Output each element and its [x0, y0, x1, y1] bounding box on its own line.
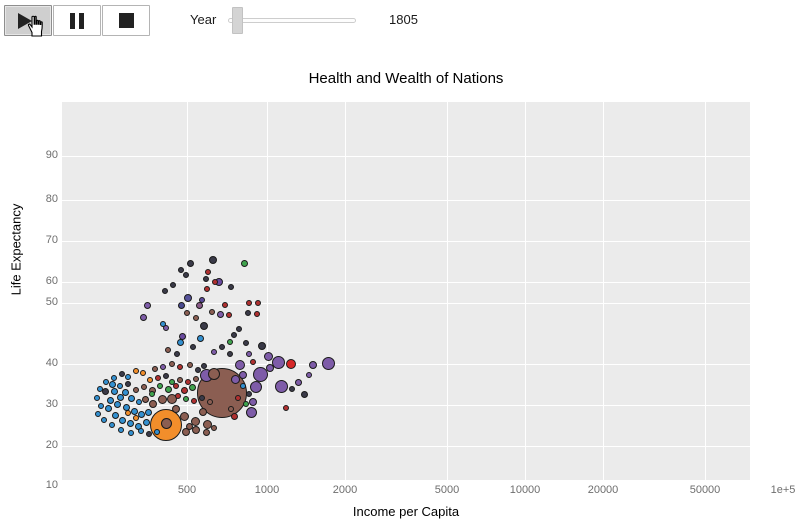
x-tick-label: 500 — [152, 484, 222, 496]
chart-title: Health and Wealth of Nations — [0, 70, 812, 87]
y-tick-label: 90 — [18, 149, 58, 161]
data-bubble[interactable] — [239, 371, 247, 379]
play-icon — [18, 13, 32, 29]
x-tick-label: 1000 — [232, 484, 302, 496]
data-bubble[interactable] — [199, 395, 205, 401]
data-bubble[interactable] — [149, 400, 157, 408]
data-bubble[interactable] — [186, 423, 193, 430]
x-tick-label: 10000 — [490, 484, 560, 496]
data-bubble[interactable] — [204, 286, 210, 292]
y-tick-label: 30 — [18, 398, 58, 410]
playback-toolbar: Year 1805 — [0, 0, 812, 42]
data-bubble[interactable] — [112, 412, 119, 419]
data-bubble[interactable] — [178, 302, 185, 309]
data-bubble[interactable] — [219, 344, 225, 350]
data-bubble[interactable] — [222, 302, 228, 308]
data-bubble[interactable] — [246, 300, 252, 306]
data-bubble[interactable] — [157, 383, 163, 389]
data-bubble[interactable] — [236, 326, 242, 332]
data-bubble[interactable] — [209, 309, 215, 315]
data-bubble[interactable] — [235, 395, 241, 401]
data-bubble[interactable] — [127, 420, 134, 427]
data-bubble[interactable] — [143, 419, 150, 426]
data-bubble[interactable] — [103, 379, 109, 385]
data-bubble[interactable] — [203, 276, 209, 282]
play-button[interactable] — [4, 5, 52, 36]
pause-button[interactable] — [53, 5, 101, 36]
y-tick-label: 20 — [18, 439, 58, 451]
data-bubble[interactable] — [266, 364, 274, 372]
data-bubble[interactable] — [97, 386, 103, 392]
pause-icon — [70, 13, 84, 29]
bubble-chart: Health and Wealth of Nations Life Expect… — [0, 42, 812, 529]
data-bubble[interactable] — [249, 398, 257, 406]
data-bubble[interactable] — [109, 422, 115, 428]
data-bubble[interactable] — [114, 401, 121, 408]
data-bubble[interactable] — [241, 260, 248, 267]
data-bubble[interactable] — [107, 397, 114, 404]
data-bubble[interactable] — [275, 380, 288, 393]
y-tick-label: 70 — [18, 234, 58, 246]
data-bubble[interactable] — [101, 417, 107, 423]
data-bubble[interactable] — [192, 426, 200, 434]
gridline-vertical — [525, 102, 526, 480]
data-bubble[interactable] — [208, 368, 220, 380]
x-tick-label: 50000 — [670, 484, 740, 496]
data-bubble[interactable] — [185, 379, 191, 385]
data-bubble[interactable] — [149, 391, 155, 397]
y-tick-label: 60 — [18, 275, 58, 287]
gridline-vertical — [267, 102, 268, 480]
year-slider[interactable] — [228, 12, 356, 28]
gridline-vertical — [603, 102, 604, 480]
data-bubble[interactable] — [211, 425, 217, 431]
data-bubble[interactable] — [140, 370, 146, 376]
data-bubble[interactable] — [145, 409, 152, 416]
data-bubble[interactable] — [118, 427, 124, 433]
year-slider-thumb[interactable] — [232, 7, 243, 34]
data-bubble[interactable] — [283, 405, 289, 411]
stop-icon — [119, 13, 134, 28]
data-bubble[interactable] — [105, 405, 112, 412]
data-bubble[interactable] — [286, 359, 296, 369]
data-bubble[interactable] — [201, 363, 207, 369]
data-bubble[interactable] — [95, 411, 101, 417]
data-bubble[interactable] — [211, 349, 217, 355]
data-bubble[interactable] — [226, 312, 232, 318]
data-bubble[interactable] — [243, 401, 249, 407]
data-bubble[interactable] — [152, 366, 158, 372]
data-bubble[interactable] — [246, 407, 257, 418]
data-bubble[interactable] — [231, 413, 238, 420]
y-tick-label: 10 — [18, 479, 58, 491]
data-bubble[interactable] — [162, 288, 168, 294]
gridline-horizontal — [62, 446, 750, 447]
gridline-horizontal — [62, 405, 750, 406]
y-tick-label: 40 — [18, 357, 58, 369]
year-slider-label: Year — [190, 12, 216, 27]
data-bubble[interactable] — [187, 362, 193, 368]
data-bubble[interactable] — [172, 405, 180, 413]
gridline-vertical — [705, 102, 706, 480]
year-slider-value: 1805 — [389, 12, 418, 27]
data-bubble[interactable] — [199, 297, 205, 303]
data-bubble[interactable] — [177, 364, 183, 370]
y-tick-label: 80 — [18, 193, 58, 205]
data-bubble[interactable] — [183, 396, 189, 402]
data-bubble[interactable] — [177, 377, 183, 383]
data-bubble[interactable] — [111, 388, 118, 395]
data-bubble[interactable] — [119, 417, 126, 424]
data-bubble[interactable] — [289, 386, 295, 392]
data-bubble[interactable] — [181, 387, 188, 394]
data-bubble[interactable] — [193, 315, 199, 321]
gridline-horizontal — [62, 282, 750, 283]
data-bubble[interactable] — [177, 339, 184, 346]
data-bubble[interactable] — [119, 371, 125, 377]
data-bubble[interactable] — [165, 347, 171, 353]
data-bubble[interactable] — [161, 418, 172, 429]
data-bubble[interactable] — [133, 368, 139, 374]
data-bubble[interactable] — [264, 352, 273, 361]
data-bubble[interactable] — [227, 351, 233, 357]
data-bubble[interactable] — [125, 374, 131, 380]
data-bubble[interactable] — [98, 403, 104, 409]
data-bubble[interactable] — [246, 351, 252, 357]
data-bubble[interactable] — [141, 384, 147, 390]
data-bubble[interactable] — [174, 351, 180, 357]
x-tick-label: 20000 — [568, 484, 638, 496]
data-bubble[interactable] — [117, 383, 123, 389]
data-bubble[interactable] — [205, 269, 211, 275]
data-bubble[interactable] — [197, 335, 204, 342]
data-bubble[interactable] — [250, 359, 256, 365]
data-bubble[interactable] — [117, 394, 124, 401]
data-bubble[interactable] — [160, 364, 166, 370]
data-bubble[interactable] — [163, 373, 169, 379]
data-bubble[interactable] — [306, 372, 312, 378]
x-axis-label: Income per Capita — [0, 504, 812, 519]
data-bubble[interactable] — [109, 381, 116, 388]
data-bubble[interactable] — [125, 410, 131, 416]
x-tick-label: 5000 — [412, 484, 482, 496]
data-bubble[interactable] — [140, 314, 147, 321]
data-bubble[interactable] — [217, 311, 224, 318]
plot-area[interactable]: 1804 — [62, 102, 750, 480]
data-bubble[interactable] — [128, 395, 135, 402]
data-bubble[interactable] — [228, 284, 234, 290]
data-bubble[interactable] — [128, 430, 134, 436]
gridline-horizontal — [62, 200, 750, 201]
data-bubble[interactable] — [240, 383, 246, 389]
data-bubble[interactable] — [133, 387, 139, 393]
data-bubble[interactable] — [184, 294, 192, 302]
gridline-horizontal — [62, 241, 750, 242]
data-bubble[interactable] — [295, 379, 302, 386]
data-bubble[interactable] — [203, 429, 210, 436]
data-bubble[interactable] — [180, 412, 189, 421]
data-bubble[interactable] — [227, 339, 233, 345]
data-bubble[interactable] — [255, 300, 261, 306]
data-bubble[interactable] — [175, 393, 181, 399]
y-tick-label: 50 — [18, 296, 58, 308]
data-bubble[interactable] — [301, 391, 308, 398]
data-bubble[interactable] — [133, 415, 139, 421]
data-bubble[interactable] — [131, 408, 138, 415]
data-bubble[interactable] — [254, 311, 260, 317]
data-bubble[interactable] — [309, 361, 317, 369]
data-bubble[interactable] — [209, 256, 217, 264]
data-bubble[interactable] — [158, 395, 167, 404]
data-bubble[interactable] — [165, 386, 172, 393]
data-bubble[interactable] — [184, 310, 190, 316]
data-bubble[interactable] — [111, 375, 117, 381]
data-bubble[interactable] — [231, 332, 237, 338]
data-bubble[interactable] — [207, 399, 213, 405]
data-bubble[interactable] — [322, 357, 335, 370]
data-bubble[interactable] — [235, 360, 245, 370]
data-bubble[interactable] — [178, 267, 184, 273]
data-bubble[interactable] — [142, 396, 149, 403]
data-bubble[interactable] — [138, 428, 144, 434]
data-bubble[interactable] — [246, 391, 252, 397]
data-bubble[interactable] — [146, 431, 152, 437]
stop-button[interactable] — [102, 5, 150, 36]
data-bubble[interactable] — [160, 321, 166, 327]
data-bubble[interactable] — [154, 429, 160, 435]
data-bubble[interactable] — [190, 344, 196, 350]
data-bubble[interactable] — [245, 310, 251, 316]
year-slider-track[interactable] — [228, 18, 356, 23]
data-bubble[interactable] — [169, 361, 175, 367]
data-bubble[interactable] — [258, 342, 266, 350]
data-bubble[interactable] — [200, 322, 208, 330]
data-bubble[interactable] — [94, 395, 100, 401]
data-bubble[interactable] — [169, 379, 175, 385]
data-bubble[interactable] — [193, 376, 199, 382]
data-bubble[interactable] — [183, 272, 189, 278]
data-bubble[interactable] — [199, 408, 207, 416]
gridline-horizontal — [62, 156, 750, 157]
data-bubble[interactable] — [144, 302, 151, 309]
data-bubble[interactable] — [125, 381, 131, 387]
data-bubble[interactable] — [187, 260, 194, 267]
data-bubble[interactable] — [147, 377, 153, 383]
x-tick-label: 2000 — [310, 484, 380, 496]
data-bubble[interactable] — [155, 375, 161, 381]
gridline-horizontal — [62, 303, 750, 304]
x-tick-label: 1e+5 — [748, 484, 812, 496]
data-bubble[interactable] — [228, 406, 234, 412]
data-bubble[interactable] — [250, 381, 262, 393]
data-bubble[interactable] — [136, 399, 142, 405]
data-bubble[interactable] — [191, 398, 197, 404]
data-bubble[interactable] — [195, 367, 201, 373]
gridline-vertical — [345, 102, 346, 480]
data-bubble[interactable] — [170, 282, 176, 288]
data-bubble[interactable] — [243, 340, 249, 346]
gridline-vertical — [447, 102, 448, 480]
data-bubble[interactable] — [212, 279, 218, 285]
